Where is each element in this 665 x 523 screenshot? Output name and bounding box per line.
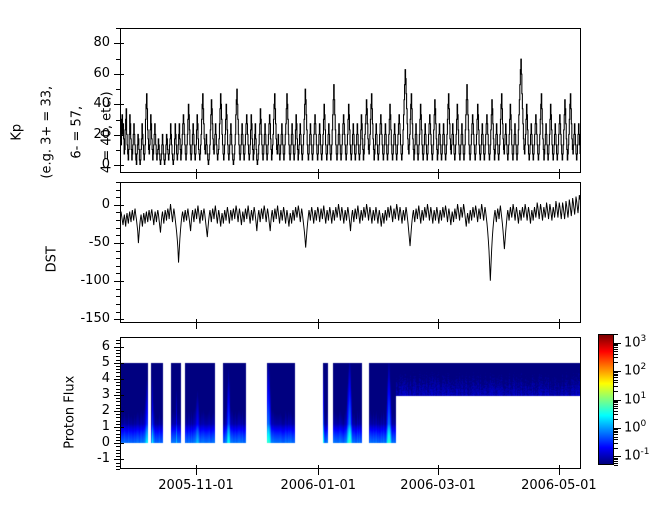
pf-ytick-inner: [120, 459, 124, 460]
pf-ytick-inner: [120, 443, 124, 444]
pf-yminor-tick: [116, 353, 120, 354]
colorbar-minor-tick: [614, 463, 618, 464]
pf-xtick-inner: [438, 465, 439, 469]
kp-ytick-label: 0: [0, 157, 110, 172]
pf-yminor-tick: [116, 434, 120, 435]
pf-yminor-tick: [116, 350, 120, 351]
colorbar-minor-tick: [614, 439, 618, 440]
pf-yminor-tick: [116, 469, 120, 470]
colorbar-minor-tick: [614, 334, 618, 335]
pf-xtick: [559, 469, 560, 475]
dst-ytick-label: -100: [0, 273, 110, 288]
colorbar-minor-tick: [614, 461, 618, 462]
kp-yminor-tick: [116, 89, 120, 90]
colorbar-major-tick: [614, 456, 621, 457]
pf-xtick: [318, 469, 319, 475]
dst-xtick: [196, 323, 197, 329]
colorbar-minor-tick: [614, 404, 618, 405]
kp-plot-panel: [120, 28, 581, 173]
pf-yminor-tick: [116, 382, 120, 383]
pf-yminor-tick: [116, 417, 120, 418]
dst-xtick: [318, 323, 319, 329]
dst-xtick: [559, 323, 560, 329]
dst-yminor-tick: [116, 312, 120, 313]
dst-yminor-tick: [116, 235, 120, 236]
colorbar-minor-tick: [614, 419, 618, 420]
colorbar-minor-tick: [614, 380, 618, 381]
kp-ytick-inner: [120, 135, 124, 136]
colorbar-minor-tick: [614, 354, 618, 355]
dst-ytick-label: 0: [0, 197, 110, 212]
colorbar-tick-label: 10-1: [624, 447, 650, 463]
xtick-label: 2006-01-01: [270, 478, 366, 493]
pf-ytick-inner: [120, 395, 124, 396]
kp-yminor-tick: [116, 120, 120, 121]
colorbar-minor-tick: [614, 375, 618, 376]
colorbar: [598, 334, 614, 465]
colorbar-minor-tick: [614, 347, 618, 348]
kp-ytick-inner: [120, 74, 124, 75]
pf-yminor-tick: [116, 385, 120, 386]
dst-yminor-tick: [116, 197, 120, 198]
kp-ytick-label: 20: [0, 127, 110, 142]
pf-yminor-tick: [116, 450, 120, 451]
colorbar-major-tick: [614, 400, 621, 401]
pf-yminor-tick: [116, 398, 120, 399]
dst-yminor-tick: [116, 266, 120, 267]
pf-yminor-tick: [116, 405, 120, 406]
pf-ytick-inner: [120, 427, 124, 428]
pf-ytick-label: 4: [0, 371, 110, 386]
colorbar-tick-label: 103: [624, 334, 646, 350]
kp-xtick-inner: [438, 169, 439, 173]
colorbar-minor-tick: [614, 429, 618, 430]
dst-xtick-inner: [559, 319, 560, 323]
dst-ytick-inner: [120, 319, 124, 320]
dst-yminor-tick: [116, 212, 120, 213]
kp-xtick: [559, 173, 560, 179]
dst-yminor-tick: [116, 220, 120, 221]
dst-yminor-tick: [116, 258, 120, 259]
colorbar-minor-tick: [614, 362, 618, 363]
xtick-label: 2006-05-01: [511, 478, 607, 493]
pf-yminor-tick: [116, 463, 120, 464]
pf-yminor-tick: [116, 392, 120, 393]
pf-yminor-tick: [116, 430, 120, 431]
dst-ytick-inner: [120, 281, 124, 282]
colorbar-minor-tick: [614, 465, 618, 466]
kp-data-trace: [121, 29, 580, 172]
kp-ytick-label: 40: [0, 96, 110, 111]
colorbar-minor-tick: [614, 432, 618, 433]
kp-ytick-inner: [120, 165, 124, 166]
colorbar-minor-tick: [614, 411, 618, 412]
kp-xtick-inner: [318, 169, 319, 173]
colorbar-minor-tick: [614, 349, 618, 350]
kp-xtick: [318, 173, 319, 179]
pf-yminor-tick: [116, 456, 120, 457]
xtick-label: 2006-03-01: [390, 478, 486, 493]
dst-yminor-tick: [116, 190, 120, 191]
colorbar-minor-tick: [614, 345, 618, 346]
pf-yminor-tick: [116, 414, 120, 415]
colorbar-minor-tick: [614, 351, 618, 352]
pf-xtick: [196, 469, 197, 475]
pf-yminor-tick: [116, 389, 120, 390]
kp-xtick-inner: [196, 169, 197, 173]
colorbar-minor-tick: [614, 377, 618, 378]
dst-xtick-inner: [438, 319, 439, 323]
pf-ytick-label: 6: [0, 339, 110, 354]
dst-xtick-inner: [318, 319, 319, 323]
dst-yminor-tick: [116, 182, 120, 183]
pf-yminor-tick: [116, 401, 120, 402]
colorbar-minor-tick: [614, 459, 618, 460]
pf-ytick-label: 0: [0, 435, 110, 450]
colorbar-minor-tick: [614, 382, 618, 383]
kp-ytick-label: 80: [0, 35, 110, 50]
pf-ytick-inner: [120, 411, 124, 412]
pf-yminor-tick: [116, 421, 120, 422]
pf-yminor-tick: [116, 340, 120, 341]
colorbar-major-tick: [614, 428, 621, 429]
kp-yminor-tick: [116, 59, 120, 60]
xtick-label: 2005-11-01: [148, 478, 244, 493]
colorbar-gradient: [599, 335, 613, 464]
pf-yminor-tick: [116, 343, 120, 344]
pf-xtick-inner: [559, 465, 560, 469]
dst-xtick-inner: [196, 319, 197, 323]
pf-yminor-tick: [116, 424, 120, 425]
pf-ytick-label: 3: [0, 387, 110, 402]
pf-yminor-tick: [116, 360, 120, 361]
dst-yminor-tick: [116, 296, 120, 297]
kp-xtick-inner: [559, 169, 560, 173]
kp-ytick-inner: [120, 104, 124, 105]
dst-axis-label-text: DST: [45, 246, 60, 272]
proton-flux-plot-panel: [120, 337, 581, 469]
pf-xtick-inner: [196, 465, 197, 469]
pf-ytick-label: 2: [0, 403, 110, 418]
pf-yminor-tick: [116, 440, 120, 441]
colorbar-minor-tick: [614, 357, 618, 358]
kp-xtick: [438, 173, 439, 179]
pf-yminor-tick: [116, 372, 120, 373]
figure-canvas: Kp (e.g. 3+ = 33, 6- = 57, 4 = 40, etc.)…: [0, 0, 665, 523]
colorbar-minor-tick: [614, 374, 618, 375]
colorbar-minor-tick: [614, 431, 618, 432]
pf-yminor-tick: [116, 356, 120, 357]
dst-xtick: [438, 323, 439, 329]
colorbar-minor-tick: [614, 391, 618, 392]
dst-ytick-label: -50: [0, 235, 110, 250]
pf-yminor-tick: [116, 408, 120, 409]
dst-data-trace: [121, 183, 580, 322]
colorbar-minor-tick: [614, 414, 618, 415]
pf-xtick-inner: [318, 465, 319, 469]
colorbar-minor-tick: [614, 437, 618, 438]
colorbar-minor-tick: [614, 401, 618, 402]
kp-yminor-tick: [116, 150, 120, 151]
pf-yminor-tick: [116, 446, 120, 447]
pf-xtick: [438, 469, 439, 475]
dst-yminor-tick: [116, 289, 120, 290]
dst-yminor-tick: [116, 228, 120, 229]
kp-yminor-tick: [116, 28, 120, 29]
proton-flux-heatmap: [121, 338, 580, 468]
pf-ytick-inner: [120, 363, 124, 364]
pf-ytick-label: 5: [0, 355, 110, 370]
colorbar-minor-tick: [614, 443, 618, 444]
dst-ytick-label: -150: [0, 311, 110, 326]
colorbar-tick-label: 100: [624, 419, 646, 435]
pf-ytick-label: 1: [0, 419, 110, 434]
kp-ytick-label: 60: [0, 66, 110, 81]
colorbar-major-tick: [614, 343, 621, 344]
colorbar-minor-tick: [614, 434, 618, 435]
dst-yminor-tick: [116, 251, 120, 252]
dst-plot-panel: [120, 182, 581, 323]
dst-yminor-tick: [116, 304, 120, 305]
colorbar-major-tick: [614, 371, 621, 372]
colorbar-tick-label: 102: [624, 362, 646, 378]
colorbar-minor-tick: [614, 344, 618, 345]
pf-ytick-label: -1: [0, 451, 110, 466]
dst-yminor-tick: [116, 273, 120, 274]
pf-yminor-tick: [116, 466, 120, 467]
colorbar-minor-tick: [614, 408, 618, 409]
pf-ytick-inner: [120, 347, 124, 348]
colorbar-minor-tick: [614, 372, 618, 373]
colorbar-minor-tick: [614, 406, 618, 407]
colorbar-minor-tick: [614, 386, 618, 387]
pf-ytick-inner: [120, 379, 124, 380]
colorbar-minor-tick: [614, 458, 618, 459]
pf-yminor-tick: [116, 453, 120, 454]
pf-yminor-tick: [116, 369, 120, 370]
dst-ytick-inner: [120, 205, 124, 206]
colorbar-minor-tick: [614, 402, 618, 403]
kp-ytick-inner: [120, 43, 124, 44]
pf-yminor-tick: [116, 437, 120, 438]
kp-xtick: [196, 173, 197, 179]
pf-yminor-tick: [116, 376, 120, 377]
pf-yminor-tick: [116, 366, 120, 367]
dst-ytick-inner: [120, 243, 124, 244]
colorbar-minor-tick: [614, 448, 618, 449]
colorbar-tick-label: 101: [624, 391, 646, 407]
